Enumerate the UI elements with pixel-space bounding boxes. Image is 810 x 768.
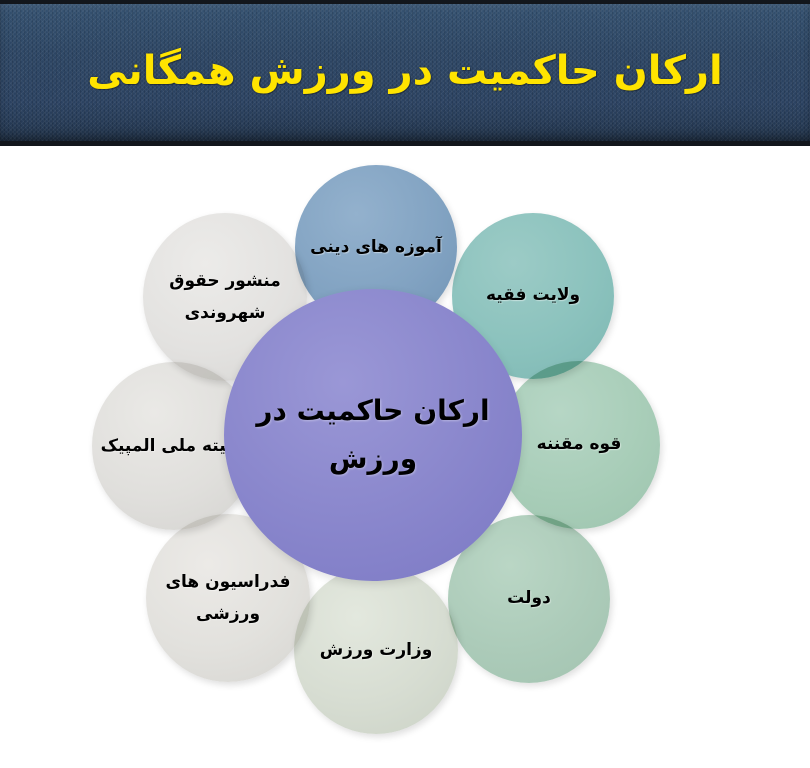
center-hub-label: ارکان حاکمیت در ورزش (224, 387, 522, 482)
center-hub-governance-pillars[interactable]: ارکان حاکمیت در ورزش (224, 289, 522, 581)
petal-label: قوه مقننه (531, 432, 628, 458)
slide-page: ارکان حاکمیت در ورزش همگانی منشور حقوق ش… (0, 0, 810, 768)
petal-label: ولایت فقیه (480, 283, 586, 309)
petal-label: آموزه های دینی (304, 231, 448, 263)
page-title: ارکان حاکمیت در ورزش همگانی (0, 4, 810, 141)
title-banner: ارکان حاکمیت در ورزش همگانی (0, 0, 810, 146)
petal-legislative-branch[interactable]: قوه مقننه (498, 361, 660, 529)
petal-label: فدراسیون های ورزشی (146, 566, 310, 631)
governance-pillars-diagram: منشور حقوق شهروندی آموزه های دینی ولایت … (0, 146, 810, 768)
banner-texture: ارکان حاکمیت در ورزش همگانی (0, 4, 810, 141)
petal-label: وزارت ورزش (314, 634, 439, 666)
petal-ministry-of-sport[interactable]: وزارت ورزش (294, 566, 458, 734)
petal-label: دولت (501, 586, 557, 612)
